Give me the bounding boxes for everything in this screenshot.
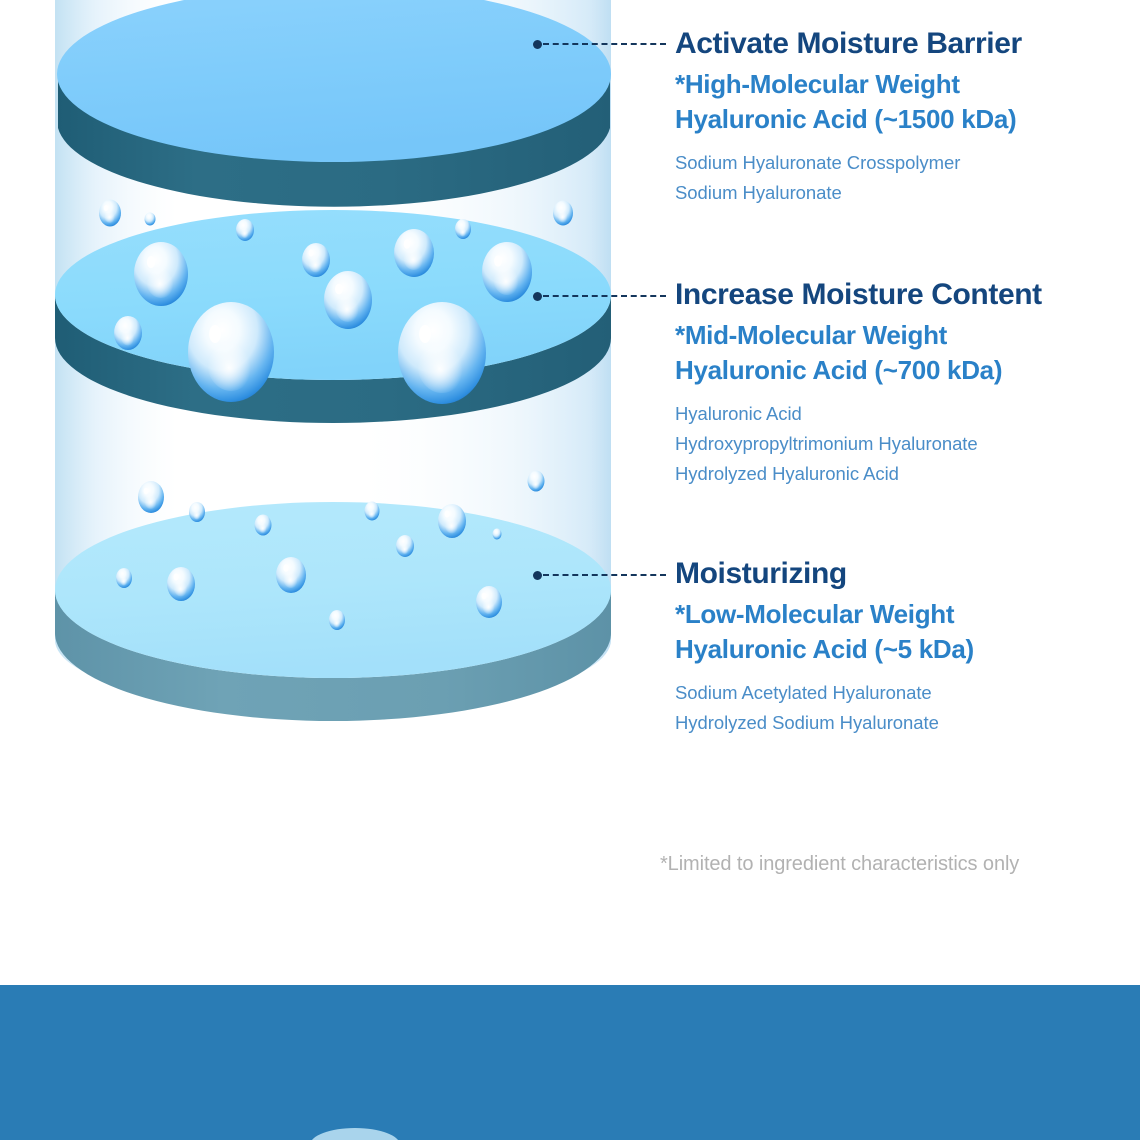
ingredient-list-top: Sodium Hyaluronate Crosspolymer Sodium H… (675, 148, 1115, 208)
layer-subtitle-middle-line1: *Mid-Molecular Weight (675, 318, 1115, 353)
leader-line-middle (533, 291, 666, 301)
leader-dash-top (543, 43, 666, 45)
layer-heading-middle: Increase Moisture Content (675, 278, 1115, 312)
layer-info-top: Activate Moisture Barrier *High-Molecula… (675, 27, 1115, 208)
ingredient-item: Sodium Hyaluronate Crosspolymer (675, 148, 1115, 178)
layer-subtitle-top-line1: *High-Molecular Weight (675, 67, 1115, 102)
hyaluronic-acid-cylinder-illustration (0, 0, 680, 790)
leader-dot-bottom (533, 571, 542, 580)
layer-info-bottom: Moisturizing *Low-Molecular Weight Hyalu… (675, 557, 1115, 738)
layer-subtitle-top-line2: Hyaluronic Acid (~1500 kDa) (675, 102, 1115, 137)
leader-dot-top (533, 40, 542, 49)
infographic-page: Activate Moisture Barrier *High-Molecula… (0, 0, 1140, 1140)
ingredient-list-middle: Hyaluronic Acid Hydroxypropyltrimonium H… (675, 399, 1115, 489)
layer-heading-bottom: Moisturizing (675, 557, 1115, 591)
ingredient-item: Sodium Hyaluronate (675, 178, 1115, 208)
leader-line-top (533, 39, 666, 49)
ingredient-item: Sodium Acetylated Hyaluronate (675, 678, 1115, 708)
leader-line-bottom (533, 570, 666, 580)
layer-heading-top: Activate Moisture Barrier (675, 27, 1115, 61)
ingredient-list-bottom: Sodium Acetylated Hyaluronate Hydrolyzed… (675, 678, 1115, 738)
leader-dash-middle (543, 295, 666, 297)
layer-subtitle-bottom-line1: *Low-Molecular Weight (675, 597, 1115, 632)
footnote-text: *Limited to ingredient characteristics o… (660, 853, 1019, 876)
leader-dash-bottom (543, 574, 666, 576)
ingredient-item: Hydroxypropyltrimonium Hyaluronate (675, 429, 1115, 459)
ingredient-item: Hydrolyzed Hyaluronic Acid (675, 459, 1115, 489)
ingredient-item: Hyaluronic Acid (675, 399, 1115, 429)
layer-subtitle-middle-line2: Hyaluronic Acid (~700 kDa) (675, 353, 1115, 388)
leader-dot-middle (533, 292, 542, 301)
disc-top-moisture-barrier (57, 0, 611, 207)
ingredient-item: Hydrolyzed Sodium Hyaluronate (675, 708, 1115, 738)
layer-subtitle-bottom-line2: Hyaluronic Acid (~5 kDa) (675, 632, 1115, 667)
bottom-color-band (0, 985, 1140, 1140)
band-accent-shape (310, 1128, 400, 1140)
layer-info-middle: Increase Moisture Content *Mid-Molecular… (675, 278, 1115, 489)
